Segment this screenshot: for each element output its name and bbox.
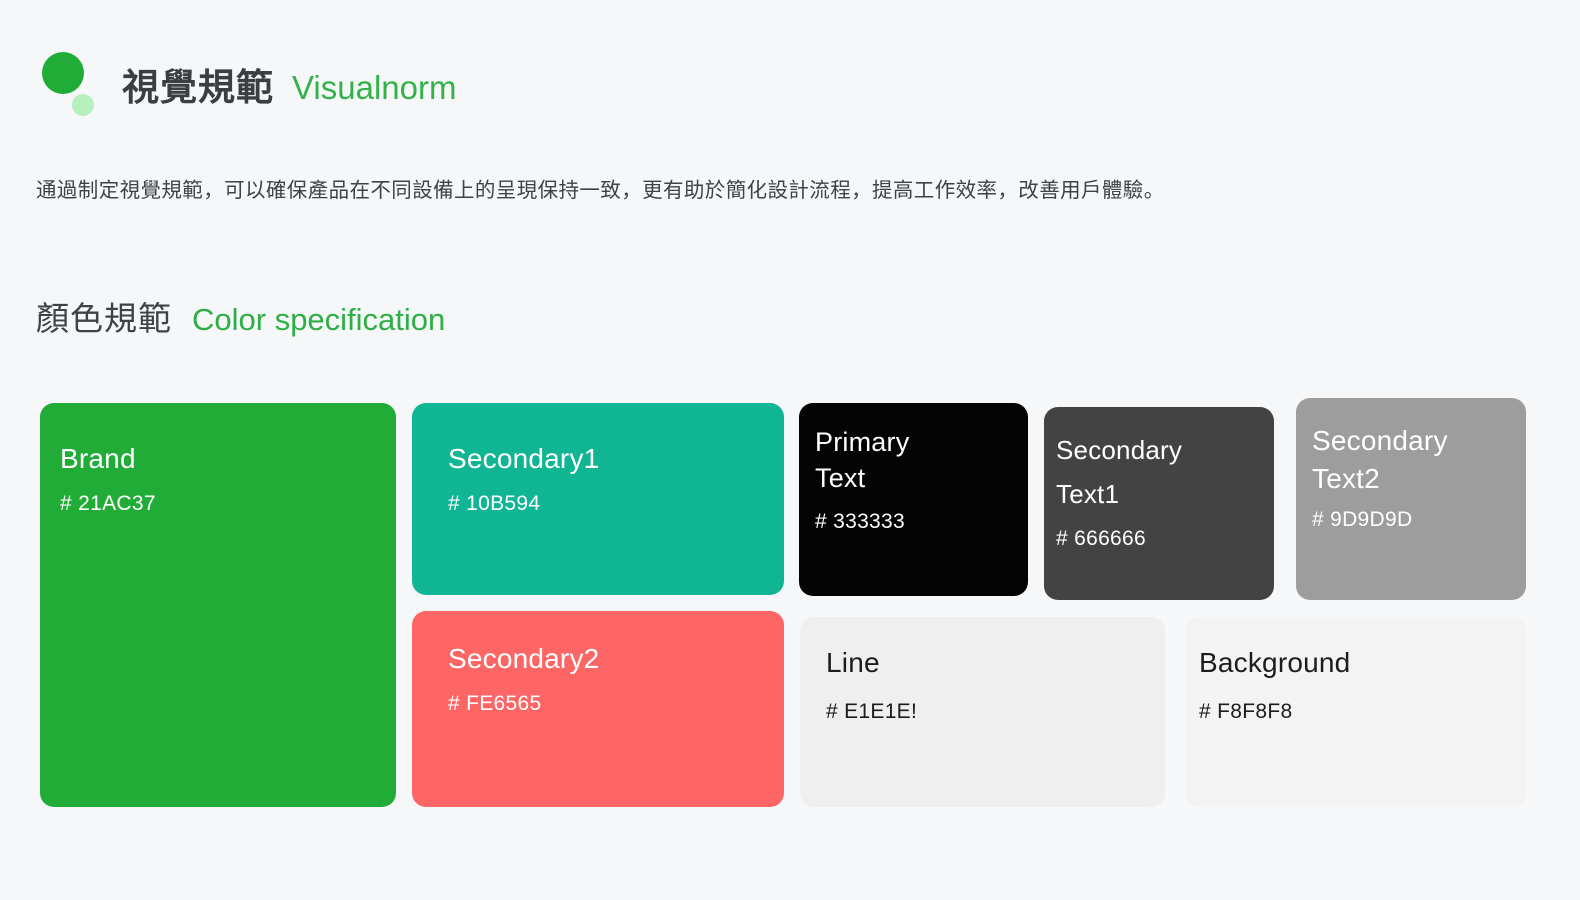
page-title-en: Visualnorm: [292, 71, 456, 104]
section-heading-cn: 顏色規範: [36, 302, 172, 335]
swatch-name: Line: [826, 645, 1165, 681]
color-swatch-secondary-text1[interactable]: Secondary Text1 # 666666: [1044, 407, 1274, 600]
swatch-name: Secondary Text1: [1056, 428, 1274, 516]
color-swatch-secondary2[interactable]: Secondary2 # FE6565: [412, 611, 784, 807]
section-heading-en: Color specification: [192, 304, 445, 335]
swatch-name: Secondary1: [448, 441, 784, 477]
swatch-name: Background: [1199, 645, 1526, 681]
swatch-name: Secondary2: [448, 641, 784, 677]
logo-small-dot-icon: [72, 94, 94, 116]
swatch-hex: # 21AC37: [60, 489, 396, 519]
swatch-hex: # E1E1E!: [826, 697, 1165, 727]
swatch-hex: # 666666: [1056, 524, 1274, 554]
color-swatch-brand[interactable]: Brand # 21AC37: [40, 403, 396, 807]
color-swatch-primary-text[interactable]: Primary Text # 333333: [799, 403, 1028, 596]
color-swatch-line[interactable]: Line # E1E1E!: [800, 617, 1165, 807]
swatch-name: Brand: [60, 441, 396, 477]
color-swatch-background[interactable]: Background # F8F8F8: [1185, 617, 1526, 807]
swatch-hex: # FE6565: [448, 689, 784, 719]
swatch-hex: # 333333: [815, 507, 1028, 537]
swatch-name: Secondary Text2: [1312, 422, 1526, 498]
color-swatch-secondary-text2[interactable]: Secondary Text2 # 9D9D9D: [1296, 398, 1526, 600]
swatch-hex: # F8F8F8: [1199, 697, 1526, 727]
color-swatch-secondary1[interactable]: Secondary1 # 10B594: [412, 403, 784, 595]
page-header: 視覺規範 Visualnorm: [40, 52, 456, 122]
page-title-cn: 視覺規範: [122, 69, 274, 106]
swatch-hex: # 9D9D9D: [1312, 505, 1526, 535]
intro-paragraph: 通過制定視覺規範，可以確保產品在不同設備上的呈現保持一致，更有助於簡化設計流程，…: [36, 166, 1526, 216]
logo-mark: [40, 48, 118, 126]
section-heading: 顏色規範 Color specification: [36, 302, 445, 335]
swatch-name: Primary Text: [815, 424, 1028, 496]
logo-large-dot-icon: [42, 52, 84, 94]
swatch-hex: # 10B594: [448, 489, 784, 519]
